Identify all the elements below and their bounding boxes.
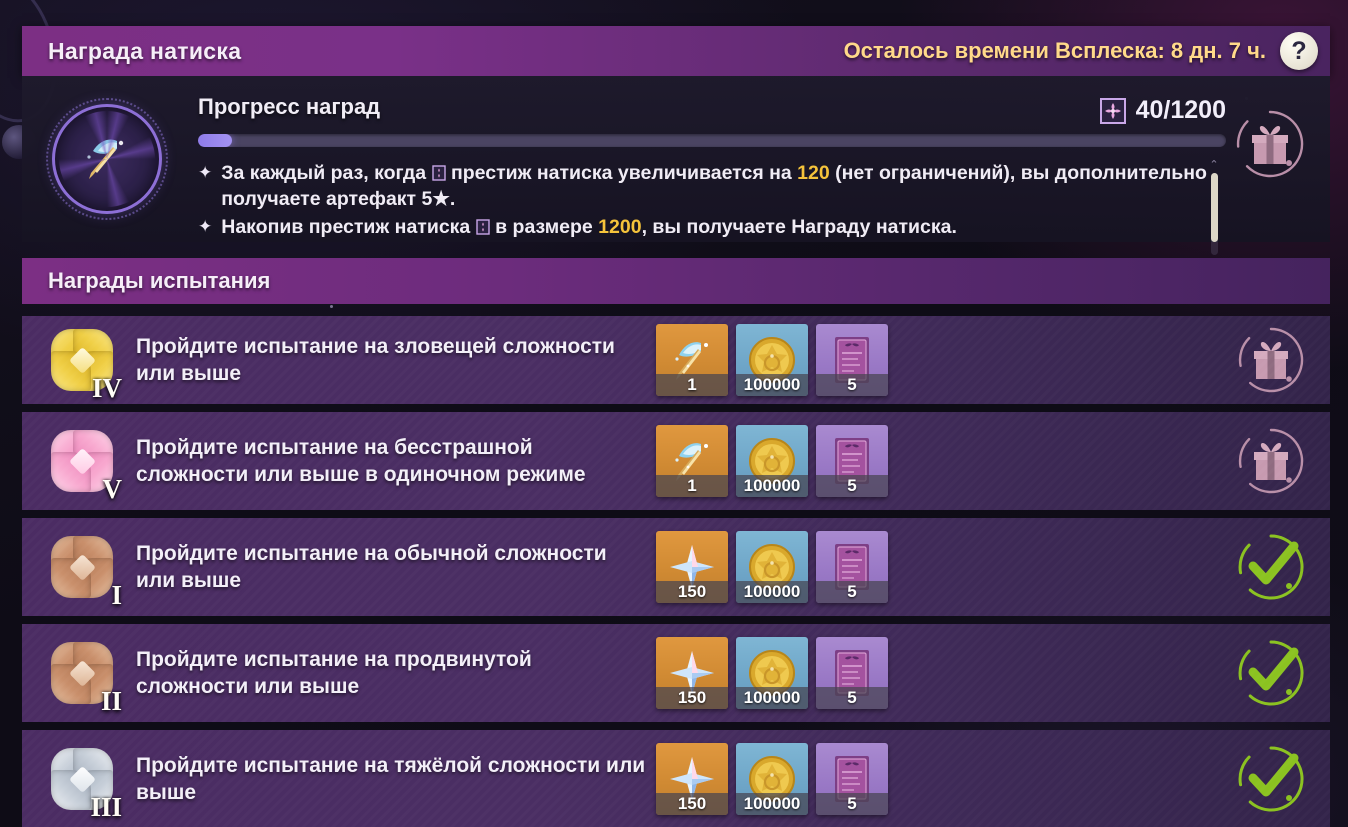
claim-reward-button[interactable] — [1234, 424, 1308, 498]
rule-highlight-number: 1200 — [598, 216, 641, 238]
reward-item-quantity: 150 — [656, 793, 728, 815]
reward-row-description: Пройдите испытание на бесстрашной сложно… — [136, 434, 646, 488]
reward-item-list: 150 100000 5 — [656, 531, 888, 603]
reward-item-quantity: 100000 — [736, 793, 808, 815]
difficulty-medal-icon: II — [40, 631, 124, 715]
progress-rule-item: ✦ За каждый раз, когда престиж натиска у… — [198, 160, 1208, 212]
reward-item-quantity: 5 — [816, 374, 888, 396]
title-bar-right-group: Осталось времени Всплеска: 8 дн. 7 ч. ? — [844, 32, 1318, 70]
reward-item-quantity: 150 — [656, 687, 728, 709]
reward-item-list: 1 100000 5 — [656, 425, 888, 497]
prestige-flower-inline-icon — [476, 219, 490, 235]
status-completed[interactable] — [1234, 742, 1308, 816]
reward-row-description: Пройдите испытание на продвинутой сложно… — [136, 646, 646, 700]
gift-icon — [1234, 424, 1308, 498]
progress-rule-text-1: Накопив престиж натиска в размере 1200, … — [221, 214, 957, 240]
reward-item[interactable]: 5 — [816, 637, 888, 709]
progress-title: Прогресс наград — [198, 94, 1226, 120]
reward-item[interactable]: 1 — [656, 425, 728, 497]
reward-item[interactable]: 5 — [816, 425, 888, 497]
reward-item-quantity: 1 — [656, 475, 728, 497]
challenge-rewards-section-header: Награды испытания — [22, 258, 1330, 304]
reward-item-quantity: 5 — [816, 687, 888, 709]
reward-item[interactable]: 100000 — [736, 531, 808, 603]
reward-item-quantity: 100000 — [736, 374, 808, 396]
reward-row-description: Пройдите испытание на обычной сложности … — [136, 540, 646, 594]
completed-check-icon — [1234, 636, 1308, 710]
sparkle-decoration — [330, 305, 333, 308]
page-title: Награда натиска — [48, 38, 241, 65]
event-timer-label: Осталось времени Всплеска: 8 дн. 7 ч. — [844, 38, 1266, 64]
progress-body: Прогресс наград 40/1200 ✦ — [198, 94, 1226, 242]
bullet-diamond-icon: ✦ — [198, 214, 212, 240]
prestige-flower-icon — [1100, 98, 1126, 124]
reward-row[interactable]: IIПройдите испытание на продвинутой слож… — [22, 624, 1330, 722]
reward-item-quantity: 100000 — [736, 581, 808, 603]
reward-progress-panel: Прогресс наград 40/1200 ✦ — [22, 76, 1330, 242]
reward-item[interactable]: 5 — [816, 324, 888, 396]
progress-counter: 40/1200 — [1100, 96, 1226, 125]
progress-bar-track — [198, 134, 1226, 147]
difficulty-medal-icon: V — [40, 419, 124, 503]
gift-icon — [1231, 105, 1309, 183]
progress-counter-value: 40/1200 — [1136, 96, 1226, 125]
medal-roman-numeral: I — [111, 582, 122, 609]
medal-roman-numeral: III — [90, 794, 122, 821]
reward-item-quantity: 1 — [656, 374, 728, 396]
progress-rules-list: ✦ За каждый раз, когда престиж натиска у… — [198, 160, 1208, 240]
reward-row-description: Пройдите испытание на тяжёлой сложности … — [136, 752, 646, 806]
completed-check-icon — [1234, 742, 1308, 816]
section-title: Награды испытания — [48, 268, 270, 294]
prestige-flower-inline-icon — [432, 165, 446, 181]
reward-item[interactable]: 100000 — [736, 425, 808, 497]
reward-rows-list: IVПройдите испытание на зловещей сложнос… — [22, 316, 1330, 827]
status-completed[interactable] — [1234, 530, 1308, 604]
progress-bar-fill — [198, 134, 232, 147]
reward-item[interactable]: 100000 — [736, 324, 808, 396]
scroll-up-icon[interactable]: ⌃ — [1209, 160, 1218, 170]
rules-scrollbar[interactable]: ⌃ ⌄ — [1206, 160, 1222, 268]
claim-reward-button[interactable] — [1234, 323, 1308, 397]
bullet-diamond-icon: ✦ — [198, 160, 212, 186]
reward-item-list: 150 100000 5 — [656, 743, 888, 815]
scrollbar-thumb[interactable] — [1211, 173, 1218, 242]
reward-item[interactable]: 5 — [816, 531, 888, 603]
reward-item[interactable]: 100000 — [736, 637, 808, 709]
completed-check-icon — [1234, 530, 1308, 604]
reward-item-list: 1 100000 5 — [656, 324, 888, 396]
medal-roman-numeral: IV — [92, 375, 122, 402]
claim-grand-reward-button[interactable] — [1230, 104, 1310, 184]
panel-title-bar: Награда натиска Осталось времени Всплеск… — [22, 26, 1330, 76]
reward-item-quantity: 100000 — [736, 475, 808, 497]
reward-item[interactable]: 5 — [816, 743, 888, 815]
reward-item[interactable]: 1 — [656, 324, 728, 396]
reward-row[interactable]: IIIПройдите испытание на тяжёлой сложнос… — [22, 730, 1330, 827]
medal-roman-numeral: II — [101, 688, 122, 715]
app-root: Награда натиска Осталось времени Всплеск… — [0, 0, 1348, 827]
difficulty-medal-icon: IV — [40, 318, 124, 402]
reward-item-quantity: 100000 — [736, 687, 808, 709]
reward-item[interactable]: 100000 — [736, 743, 808, 815]
progress-rule-text-0: За каждый раз, когда престиж натиска уве… — [221, 160, 1208, 212]
difficulty-medal-icon: I — [40, 525, 124, 609]
reward-item-quantity: 5 — [816, 793, 888, 815]
reward-item-list: 150 100000 5 — [656, 637, 888, 709]
reward-item-quantity: 5 — [816, 475, 888, 497]
status-completed[interactable] — [1234, 636, 1308, 710]
emblem-starburst — [59, 111, 155, 207]
reward-item[interactable]: 150 — [656, 531, 728, 603]
help-button[interactable]: ? — [1280, 32, 1318, 70]
reward-item[interactable]: 150 — [656, 637, 728, 709]
reward-row-description: Пройдите испытание на зловещей сложности… — [136, 333, 646, 387]
gift-icon — [1234, 323, 1308, 397]
reward-row[interactable]: IПройдите испытание на обычной сложности… — [22, 518, 1330, 616]
reward-item-quantity: 5 — [816, 581, 888, 603]
reward-row[interactable]: IVПройдите испытание на зловещей сложнос… — [22, 316, 1330, 404]
surge-emblem-icon — [52, 104, 162, 214]
reward-item[interactable]: 150 — [656, 743, 728, 815]
reward-item-quantity: 150 — [656, 581, 728, 603]
difficulty-medal-icon: III — [40, 737, 124, 821]
medal-roman-numeral: V — [103, 476, 123, 503]
rule-highlight-number: 120 — [797, 162, 830, 184]
reward-row[interactable]: VПройдите испытание на бесстрашной сложн… — [22, 412, 1330, 510]
scrollbar-track[interactable] — [1211, 173, 1218, 255]
progress-rule-item: ✦ Накопив престиж натиска в размере 1200… — [198, 214, 1208, 240]
